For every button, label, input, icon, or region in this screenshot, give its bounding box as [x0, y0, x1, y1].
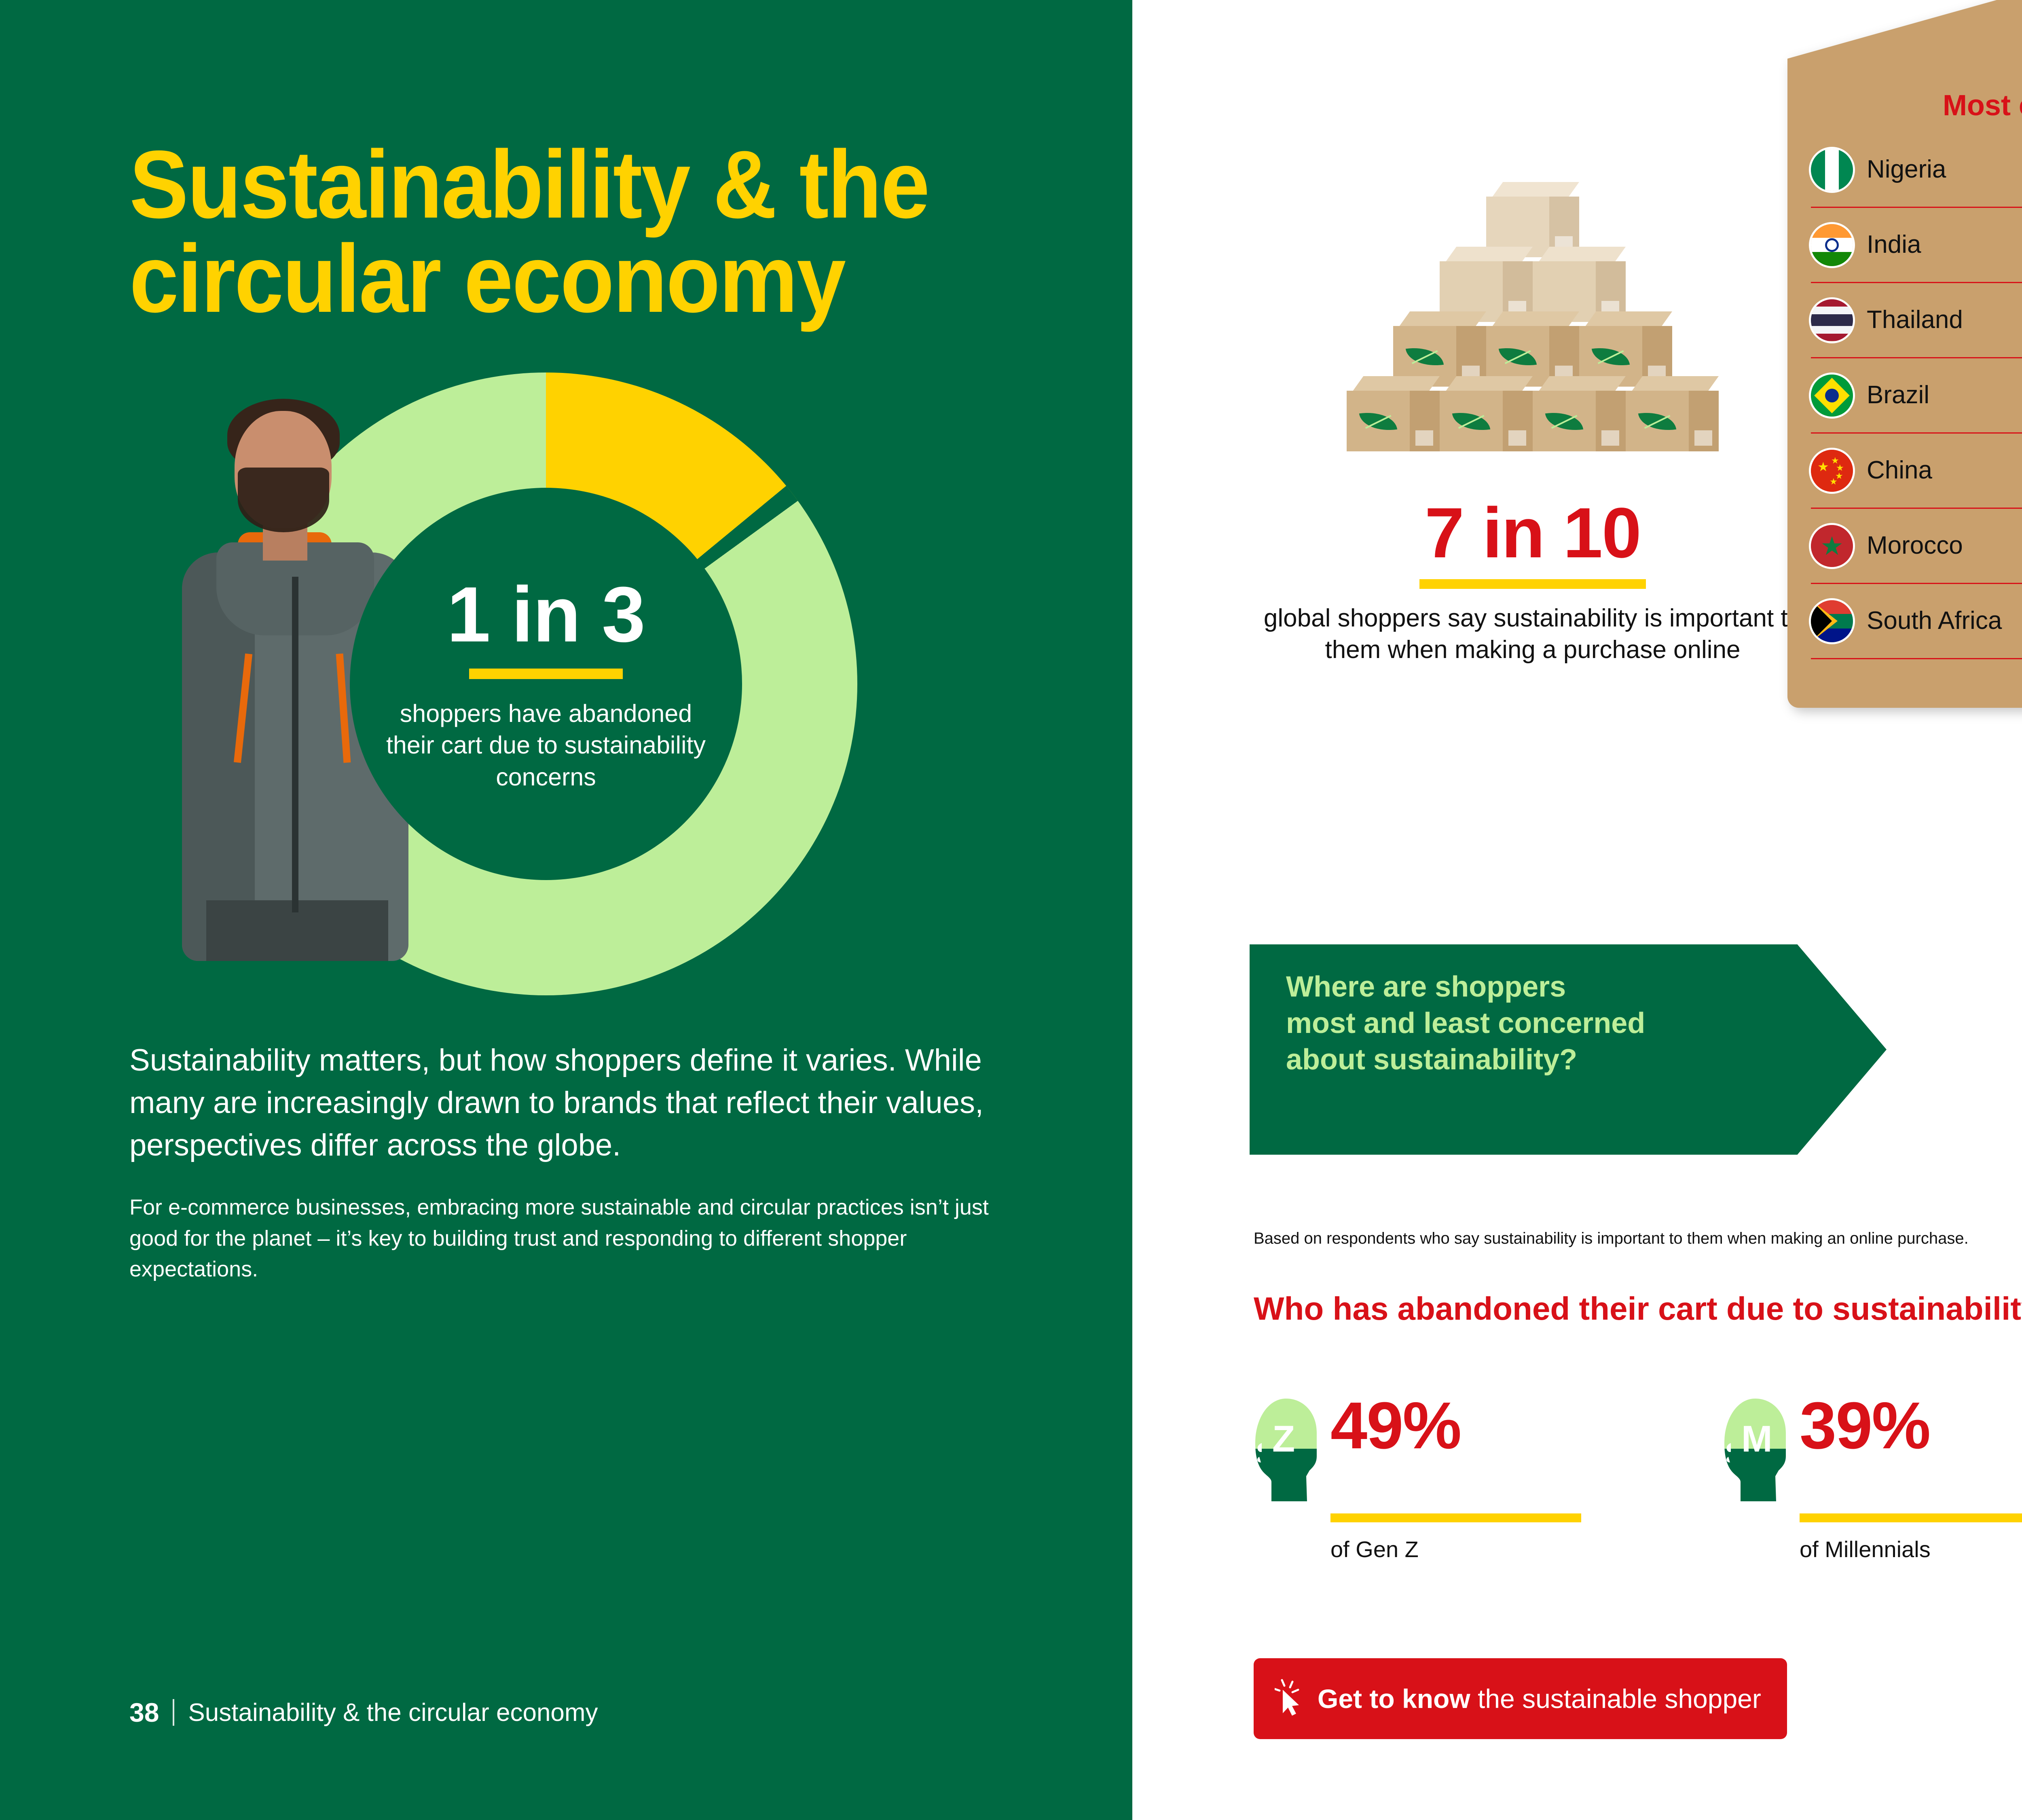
most-concerned-tag: Most concerned Nigeria 93% India 92% [1787, 0, 2022, 708]
seven-in-ten-value: 7 in 10 [1254, 497, 1812, 569]
package-box-eco [1393, 311, 1486, 387]
cta-rest-label: the sustainable shopper [1470, 1684, 1761, 1714]
table-row: Nigeria 93% [1811, 133, 2022, 208]
donut-stat-value: 1 in 3 [447, 576, 645, 654]
generation-question: Who has abandoned their cart due to sust… [1254, 1290, 2022, 1327]
banner-line-3: about sustainability? [1286, 1043, 1577, 1076]
flag-brazil-icon [1811, 375, 1853, 417]
donut-stat-caption: shoppers have abandoned their cart due t… [374, 698, 718, 792]
table-row: Thailand 84% [1811, 283, 2022, 358]
donut-underline [469, 669, 623, 679]
head-profile-icon: Z [1254, 1395, 1318, 1505]
country-name: Thailand [1867, 307, 2022, 334]
generation-stat-gen-z: Z 49% of Gen Z [1254, 1395, 1723, 1562]
generation-percent: 49% [1330, 1395, 1461, 1456]
generation-badge: M [1741, 1420, 1772, 1458]
page-number: 38 [129, 1697, 159, 1728]
intro-paragraph: Sustainability matters, but how shoppers… [129, 1039, 1003, 1167]
table-row: Brazil 83% [1811, 358, 2022, 434]
click-cursor-icon [1275, 1678, 1306, 1719]
get-to-know-button[interactable]: Get to know the sustainable shopper [1254, 1658, 1787, 1739]
flag-china-icon: ★ ★ ★ ★ ★ [1811, 450, 1853, 492]
generation-underline [1800, 1513, 2022, 1522]
country-name: South Africa [1867, 607, 2022, 635]
seven-in-ten-underline [1419, 579, 1646, 589]
generation-label: of Millennials [1800, 1536, 2022, 1562]
secondary-paragraph: For e-commerce businesses, embracing mor… [129, 1192, 1003, 1285]
generation-underline [1330, 1513, 1581, 1522]
cta-bold-label: Get to know [1318, 1684, 1470, 1714]
generation-stats-row: Z 49% of Gen Z M 39% [1254, 1395, 2022, 1562]
right-panel: 7 in 10 global shoppers say sustainabili… [1132, 0, 2022, 1820]
head-profile-icon: M [1723, 1395, 1787, 1505]
table-row: South Africa 83% [1811, 584, 2022, 659]
table-row: ★ ★ ★ ★ ★ China 83% [1811, 434, 2022, 509]
country-name: China [1867, 457, 2022, 484]
flag-south-africa-icon [1811, 600, 1853, 642]
flag-india-icon [1811, 224, 1853, 266]
generation-label: of Gen Z [1330, 1536, 1723, 1562]
package-box [1440, 247, 1533, 322]
most-concerned-title: Most concerned [1787, 89, 2022, 122]
package-box-eco [1579, 311, 1672, 387]
package-box-eco [1626, 376, 1719, 451]
package-box [1486, 182, 1579, 257]
generation-stat-millennials: M 39% of Millennials [1723, 1395, 2022, 1562]
package-box-eco [1347, 376, 1440, 451]
most-concerned-list: Nigeria 93% India 92% [1787, 133, 2022, 659]
table-row: India 92% [1811, 208, 2022, 283]
donut-center: 1 in 3 shoppers have abandoned their car… [350, 488, 742, 880]
flag-morocco-icon: ★ [1811, 525, 1853, 567]
footer-section-name: Sustainability & the circular economy [188, 1698, 598, 1727]
banner-line-1: Where are shoppers [1286, 971, 1566, 1003]
seven-in-ten-stat: 7 in 10 global shoppers say sustainabili… [1254, 170, 1812, 666]
page-footer: 38 Sustainability & the circular economy [129, 1697, 598, 1728]
flag-thailand-icon [1811, 299, 1853, 341]
banner-line-2: most and least concerned [1286, 1007, 1645, 1039]
footer-divider [173, 1699, 174, 1726]
package-pyramid-illustration [1254, 170, 1812, 497]
footnote: Based on respondents who say sustainabil… [1254, 1230, 1969, 1248]
package-box-eco [1486, 311, 1579, 387]
tag-body: Most concerned Nigeria 93% India 92% [1787, 0, 2022, 708]
country-name: Morocco [1867, 532, 2022, 559]
donut-chart: 1 in 3 shoppers have abandoned their car… [125, 338, 878, 1026]
table-row: ★ Morocco 83% [1811, 509, 2022, 584]
package-box-eco [1440, 376, 1533, 451]
country-name: Brazil [1867, 382, 2022, 409]
country-name: India [1867, 231, 2022, 258]
flag-nigeria-icon [1811, 149, 1853, 191]
title-line-1: Sustainability & the [129, 131, 929, 238]
page-title: Sustainability & the circular economy [129, 138, 933, 326]
package-box-eco [1533, 376, 1626, 451]
country-name: Nigeria [1867, 156, 2022, 183]
package-box [1533, 247, 1626, 322]
generation-badge: Z [1272, 1420, 1295, 1458]
seven-in-ten-caption: global shoppers say sustainability is im… [1254, 603, 1812, 666]
question-arrow-banner: Where are shoppers most and least concer… [1250, 944, 1887, 1155]
left-panel: Sustainability & the circular economy 1 … [0, 0, 1132, 1820]
title-line-2: circular economy [129, 225, 845, 332]
generation-percent: 39% [1800, 1395, 1930, 1456]
